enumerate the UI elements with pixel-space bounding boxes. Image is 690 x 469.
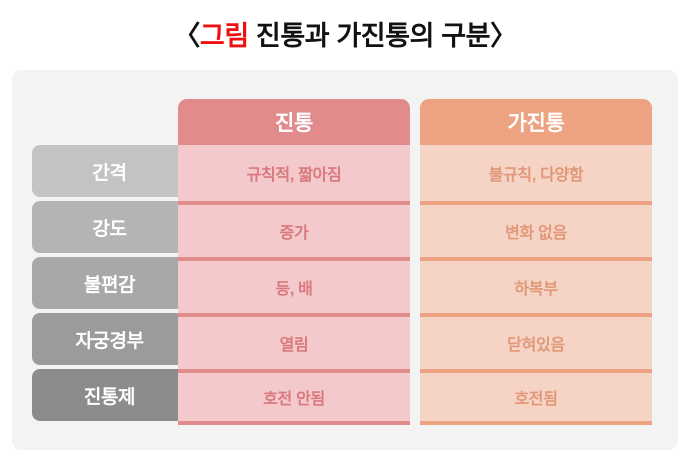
column-body-gajintong: 불규칙, 다양함 변화 없음 하복부 닫혀있음 호전됨 [420,145,652,425]
row-label-intensity: 강도 [32,201,187,253]
row-label-discomfort: 불편감 [32,257,187,309]
title-rest: 진통과 가진통의 구분 [249,21,490,51]
cell-gajintong-cervix-text: 닫혀있음 [507,331,565,355]
row-label-analgesic: 진통제 [32,369,187,421]
row-label-cervix-text: 자궁경부 [75,326,143,353]
column-header-gajintong: 가진통 [420,99,652,145]
cell-gajintong-intensity: 변화 없음 [420,201,652,257]
cell-jintong-interval-text: 규칙적, 짧아짐 [247,161,342,185]
cell-gajintong-interval-text: 불규칙, 다양함 [489,161,584,185]
cell-gajintong-discomfort-text: 하복부 [514,275,557,299]
row-label-analgesic-text: 진통제 [84,382,135,409]
cell-jintong-discomfort-text: 등, 배 [275,275,312,299]
cell-jintong-cervix-text: 열림 [280,331,309,355]
cell-jintong-intensity: 증가 [178,201,410,257]
column-header-jintong: 진통 [178,99,410,145]
row-label-discomfort-text: 불편감 [84,270,135,297]
cell-jintong-analgesic: 호전 안됨 [178,369,410,425]
cell-gajintong-cervix: 닫혀있음 [420,313,652,369]
cell-gajintong-interval: 불규칙, 다양함 [420,145,652,201]
row-label-interval-text: 간격 [92,158,126,185]
cell-jintong-discomfort: 등, 배 [178,257,410,313]
page-title-text: 〈그림 진통과 가진통의 구분〉 [173,14,516,53]
cell-jintong-cervix: 열림 [178,313,410,369]
row-label-interval: 간격 [32,145,187,197]
cell-jintong-intensity-text: 증가 [280,219,309,243]
title-accent-word: 그림 [200,21,249,51]
column-body-jintong: 규칙적, 짧아짐 증가 등, 배 열림 호전 안됨 [178,145,410,425]
comparison-panel: 진통 가진통 간격 강도 불편감 자궁경부 진통제 규 [12,70,678,450]
row-label-intensity-text: 강도 [92,214,126,241]
column-header-jintong-label: 진통 [275,107,313,137]
cell-jintong-interval: 규칙적, 짧아짐 [178,145,410,201]
title-bracket-open: 〈 [173,21,200,51]
cell-gajintong-discomfort: 하복부 [420,257,652,313]
column-header-gajintong-label: 가진통 [507,107,564,137]
row-label-column: 간격 강도 불편감 자궁경부 진통제 [32,145,187,425]
comparison-table: 진통 가진통 간격 강도 불편감 자궁경부 진통제 규 [12,70,678,450]
cell-jintong-analgesic-text: 호전 안됨 [263,385,325,409]
page-title: 〈그림 진통과 가진통의 구분〉 [0,10,690,56]
row-label-cervix: 자궁경부 [32,313,187,365]
title-bracket-close: 〉 [490,21,517,51]
cell-gajintong-intensity-text: 변화 없음 [505,219,567,243]
cell-gajintong-analgesic: 호전됨 [420,369,652,425]
cell-gajintong-analgesic-text: 호전됨 [514,385,557,409]
